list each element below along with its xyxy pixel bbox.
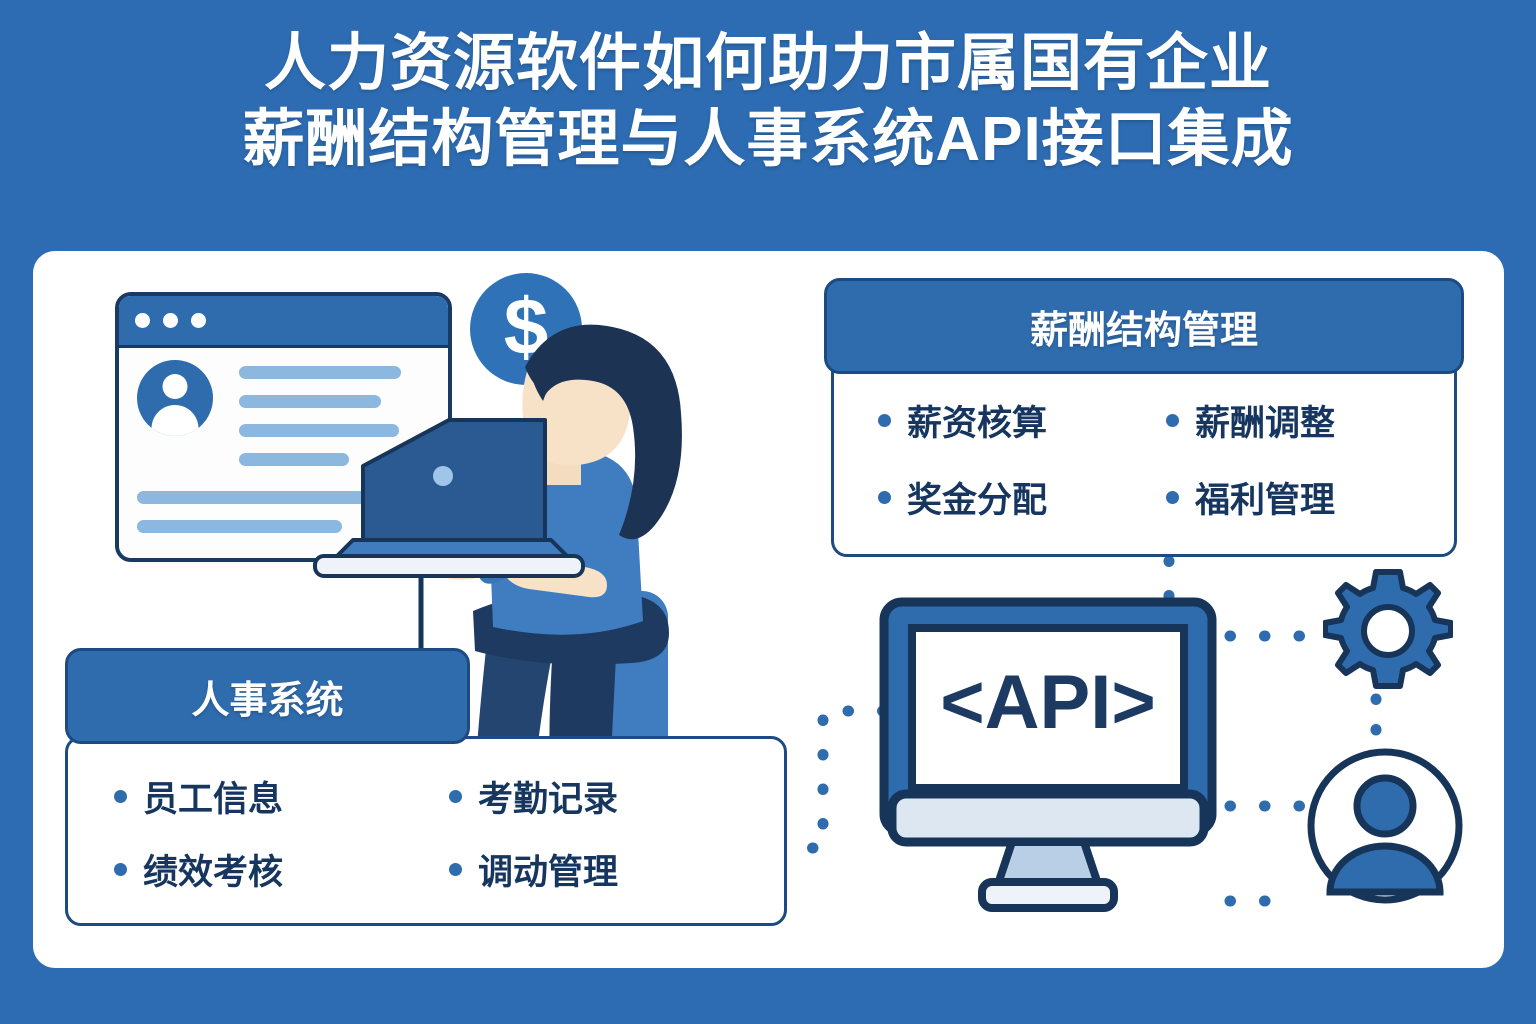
hr-system-card: 员工信息 考勤记录 绩效考核 调动管理 人事系统 (65, 648, 787, 926)
gear-icon (1323, 566, 1453, 696)
bullet-dot-icon (449, 863, 462, 876)
salary-item-label: 薪资核算 (907, 395, 1047, 446)
salary-structure-card: 薪资核算 薪酬调整 奖金分配 福利管理 薪酬结构管理 (824, 278, 1464, 557)
salary-item-2: 奖金分配 (878, 472, 1166, 523)
hr-item-2: 绩效考核 (114, 844, 449, 895)
hr-item-label: 绩效考核 (143, 844, 283, 895)
bullet-dot-icon (1166, 491, 1179, 504)
salary-item-label: 福利管理 (1195, 472, 1335, 523)
hr-item-label: 考勤记录 (478, 771, 618, 822)
hr-item-0: 员工信息 (114, 771, 449, 822)
api-monitor-icon: <API> (878, 596, 1218, 916)
salary-item-label: 薪酬调整 (1195, 395, 1335, 446)
page-title: 人力资源软件如何助力市属国有企业 薪酬结构管理与人事系统API接口集成 (0, 26, 1536, 177)
bullet-dot-icon (114, 790, 127, 803)
salary-item-0: 薪资核算 (878, 395, 1166, 446)
hr-item-label: 调动管理 (478, 844, 618, 895)
bullet-dot-icon (114, 863, 127, 876)
title-line-1: 人力资源软件如何助力市属国有企业 (0, 26, 1536, 102)
api-screen-label: <API> (940, 660, 1155, 745)
salary-item-1: 薪酬调整 (1166, 395, 1454, 446)
salary-item-3: 福利管理 (1166, 472, 1454, 523)
hr-card-body: 员工信息 考勤记录 绩效考核 调动管理 (65, 736, 787, 926)
salary-card-body: 薪资核算 薪酬调整 奖金分配 福利管理 (831, 350, 1457, 557)
title-line-2: 薪酬结构管理与人事系统API接口集成 (0, 102, 1536, 178)
hr-card-header: 人事系统 (65, 648, 470, 744)
bullet-dot-icon (878, 491, 891, 504)
bullet-dot-icon (878, 414, 891, 427)
salary-item-label: 奖金分配 (907, 472, 1047, 523)
user-circle-icon (1305, 746, 1465, 906)
content-panel: $ (33, 251, 1504, 968)
hr-item-1: 考勤记录 (449, 771, 784, 822)
hr-item-label: 员工信息 (143, 771, 283, 822)
salary-card-header: 薪酬结构管理 (824, 278, 1464, 374)
bullet-dot-icon (449, 790, 462, 803)
hr-item-3: 调动管理 (449, 844, 784, 895)
bullet-dot-icon (1166, 414, 1179, 427)
